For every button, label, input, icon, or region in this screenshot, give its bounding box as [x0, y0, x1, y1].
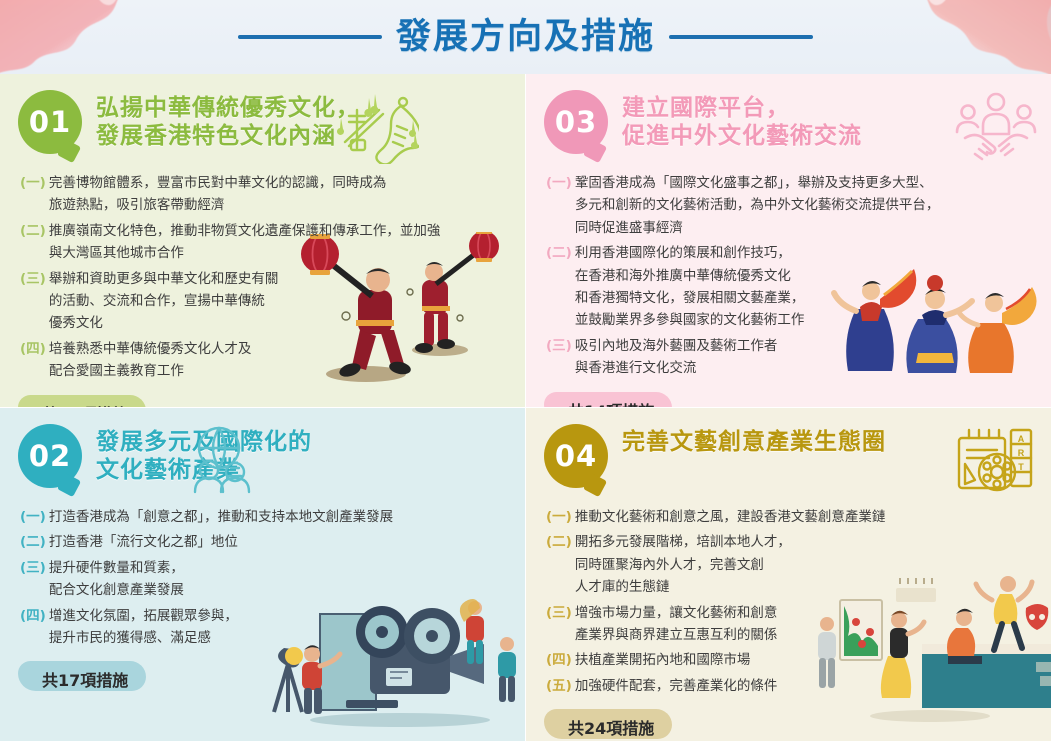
list-item-text: 舉辦和資助更多與中華文化和歷史有關 的活動、交流和合作，宣揚中華傳統 優秀文化	[49, 268, 279, 335]
list-item-number: (三)	[20, 268, 46, 290]
panel-03-list: (一) 鞏固香港成為「國際文化盛事之都」，舉辦及支持更多大型、 多元和創新的文化…	[546, 172, 1051, 380]
panel-03-number-badge: 03	[544, 90, 608, 154]
page-title-row: 發展方向及措施	[0, 0, 1051, 74]
list-item: (三) 舉辦和資助更多與中華文化和歷史有關 的活動、交流和合作，宣揚中華傳統 優…	[20, 268, 525, 335]
panel-02-total-text: 共17項措施	[42, 671, 128, 690]
list-item-text: 推廣嶺南文化特色，推動非物質文化遺產保護和傳承工作，並加強 與大灣區其他城市合作	[49, 220, 441, 265]
list-item-text: 提升硬件數量和質素， 配合文化創意產業發展	[49, 557, 184, 602]
list-item-text: 推動文化藝術和創意之風，建設香港文藝創意產業鏈	[575, 506, 886, 528]
list-item-text: 打造香港「流行文化之都」地位	[49, 531, 238, 553]
panel-03[interactable]: 03 建立國際平台， 促進中外文化藝術交流	[526, 74, 1051, 407]
panel-01-number-badge: 01	[18, 90, 82, 154]
list-item-text: 吸引內地及海外藝團及藝術工作者 與香港進行文化交流	[575, 335, 778, 380]
list-item-text: 完善博物館體系，豐富市民對中華文化的認識，同時成為 旅遊熱點，吸引旅客帶動經濟	[49, 172, 387, 217]
panel-03-number: 03	[555, 108, 597, 137]
list-item-text: 培養熟悉中華傳統優秀文化人才及 配合愛國主義教育工作	[49, 338, 252, 383]
list-item: (一) 推動文化藝術和創意之風，建設香港文藝創意產業鏈	[546, 506, 1051, 528]
panel-03-title: 建立國際平台， 促進中外文化藝術交流	[622, 90, 862, 150]
list-item-text: 鞏固香港成為「國際文化盛事之都」，舉辦及支持更多大型、 多元和創新的文化藝術活動…	[575, 172, 940, 239]
infographic-page: 發展方向及措施	[0, 0, 1051, 741]
list-item: (二) 推廣嶺南文化特色，推動非物質文化遺產保護和傳承工作，並加強 與大灣區其他…	[20, 220, 525, 265]
list-item: (四) 扶植產業開拓內地和國際市場	[546, 649, 1051, 671]
list-item-number: (二)	[546, 531, 572, 553]
list-item-number: (二)	[20, 220, 46, 242]
panel-03-total-badge: 共14項措施	[552, 393, 674, 407]
list-item: (二) 開拓多元發展階梯，培訓本地人才， 同時匯聚海內外人才，完善文創 人才庫的…	[546, 531, 1051, 598]
list-item-number: (四)	[20, 605, 46, 627]
panel-01-total-text: 共16項措施	[42, 405, 128, 407]
panel-01-header: 01 弘揚中華傳統優秀文化， 發展香港特色文化內涵	[0, 74, 525, 154]
svg-text:R: R	[1018, 448, 1025, 458]
list-item-text: 扶植產業開拓內地和國際市場	[575, 649, 751, 671]
page-header: 發展方向及措施	[0, 0, 1051, 74]
list-item-number: (五)	[546, 675, 572, 697]
list-item: (一) 打造香港成為「創意之都」，推動和支持本地文創產業發展	[20, 506, 525, 528]
list-item-number: (三)	[20, 557, 46, 579]
list-item: (五) 加強硬件配套，完善產業化的條件	[546, 675, 1051, 697]
svg-text:T: T	[1018, 462, 1024, 472]
list-item: (二) 打造香港「流行文化之都」地位	[20, 531, 525, 553]
panel-04-number-badge: 04	[544, 424, 608, 488]
list-item-number: (一)	[546, 172, 572, 194]
list-item-text: 加強硬件配套，完善產業化的條件	[575, 675, 778, 697]
panel-02-number: 02	[29, 442, 71, 471]
list-item: (二) 利用香港國際化的策展和創作技巧， 在香港和海外推廣中華傳統優秀文化 和香…	[546, 242, 1051, 332]
panel-02[interactable]: 02 發展多元及國際化的 文化藝術產業 (一) 打造香港成	[0, 408, 525, 741]
list-item-number: (一)	[546, 506, 572, 528]
panel-04-total-text: 共24項措施	[568, 719, 654, 738]
list-item-text: 增進文化氛圍，拓展觀眾參與， 提升市民的獲得感、滿足感	[49, 605, 238, 650]
list-item: (三) 提升硬件數量和質素， 配合文化創意產業發展	[20, 557, 525, 602]
list-item-text: 打造香港成為「創意之都」，推動和支持本地文創產業發展	[49, 506, 393, 528]
panel-04-list: (一) 推動文化藝術和創意之風，建設香港文藝創意產業鏈 (二) 開拓多元發展階梯…	[546, 506, 1051, 697]
svg-text:A: A	[1018, 434, 1025, 444]
panel-01[interactable]: 01 弘揚中華傳統優秀文化， 發展香港特色文化內涵	[0, 74, 525, 407]
panel-03-total-text: 共14項措施	[568, 402, 654, 407]
list-item: (一) 鞏固香港成為「國際文化盛事之都」，舉辦及支持更多大型、 多元和創新的文化…	[546, 172, 1051, 239]
panel-01-title: 弘揚中華傳統優秀文化， 發展香港特色文化內涵	[96, 90, 360, 150]
panel-01-list: (一) 完善博物館體系，豐富市民對中華文化的認識，同時成為 旅遊熱點，吸引旅客帶…	[20, 172, 525, 383]
list-item-number: (二)	[20, 531, 46, 553]
panel-04-number: 04	[555, 442, 597, 471]
list-item: (四) 增進文化氛圍，拓展觀眾參與， 提升市民的獲得感、滿足感	[20, 605, 525, 650]
list-item-number: (四)	[546, 649, 572, 671]
title-rule-left	[238, 35, 382, 39]
grid-divider-horizontal	[0, 407, 1051, 408]
panel-04[interactable]: 04 完善文藝創意產業生態圈 A	[526, 408, 1051, 741]
list-item-number: (四)	[20, 338, 46, 360]
panel-grid: 01 弘揚中華傳統優秀文化， 發展香港特色文化內涵	[0, 74, 1051, 741]
list-item-text: 利用香港國際化的策展和創作技巧， 在香港和海外推廣中華傳統優秀文化 和香港獨特文…	[575, 242, 805, 332]
list-item: (三) 吸引內地及海外藝團及藝術工作者 與香港進行文化交流	[546, 335, 1051, 380]
panel-01-total-badge: 共16項措施	[26, 396, 148, 407]
list-item: (一) 完善博物館體系，豐富市民對中華文化的認識，同時成為 旅遊熱點，吸引旅客帶…	[20, 172, 525, 217]
list-item-text: 開拓多元發展階梯，培訓本地人才， 同時匯聚海內外人才，完善文創 人才庫的生態鏈	[575, 531, 791, 598]
list-item: (四) 培養熟悉中華傳統優秀文化人才及 配合愛國主義教育工作	[20, 338, 525, 383]
list-item: (三) 增強市場力量，讓文化藝術和創意 產業界與商界建立互惠互利的關係	[546, 602, 1051, 647]
chinese-instruments-icon	[335, 92, 419, 164]
globe-people-icon	[189, 426, 267, 494]
panel-02-total-badge: 共17項措施	[26, 662, 148, 697]
panel-01-number: 01	[29, 108, 71, 137]
list-item-text: 增強市場力量，讓文化藝術和創意 產業界與商界建立互惠互利的關係	[575, 602, 778, 647]
panel-02-number-badge: 02	[18, 424, 82, 488]
list-item-number: (一)	[20, 172, 46, 194]
panel-04-total-badge: 共24項措施	[552, 710, 674, 741]
art-film-reel-icon: A R T	[951, 426, 1035, 496]
list-item-number: (三)	[546, 602, 572, 624]
panel-02-list: (一) 打造香港成為「創意之都」，推動和支持本地文創產業發展 (二) 打造香港「…	[20, 506, 525, 649]
page-title: 發展方向及措施	[396, 20, 655, 55]
list-item-number: (三)	[546, 335, 572, 357]
list-item-number: (二)	[546, 242, 572, 264]
title-rule-right	[669, 35, 813, 39]
panel-04-title: 完善文藝創意產業生態圈	[622, 424, 886, 456]
handshake-people-icon	[953, 92, 1039, 162]
list-item-number: (一)	[20, 506, 46, 528]
